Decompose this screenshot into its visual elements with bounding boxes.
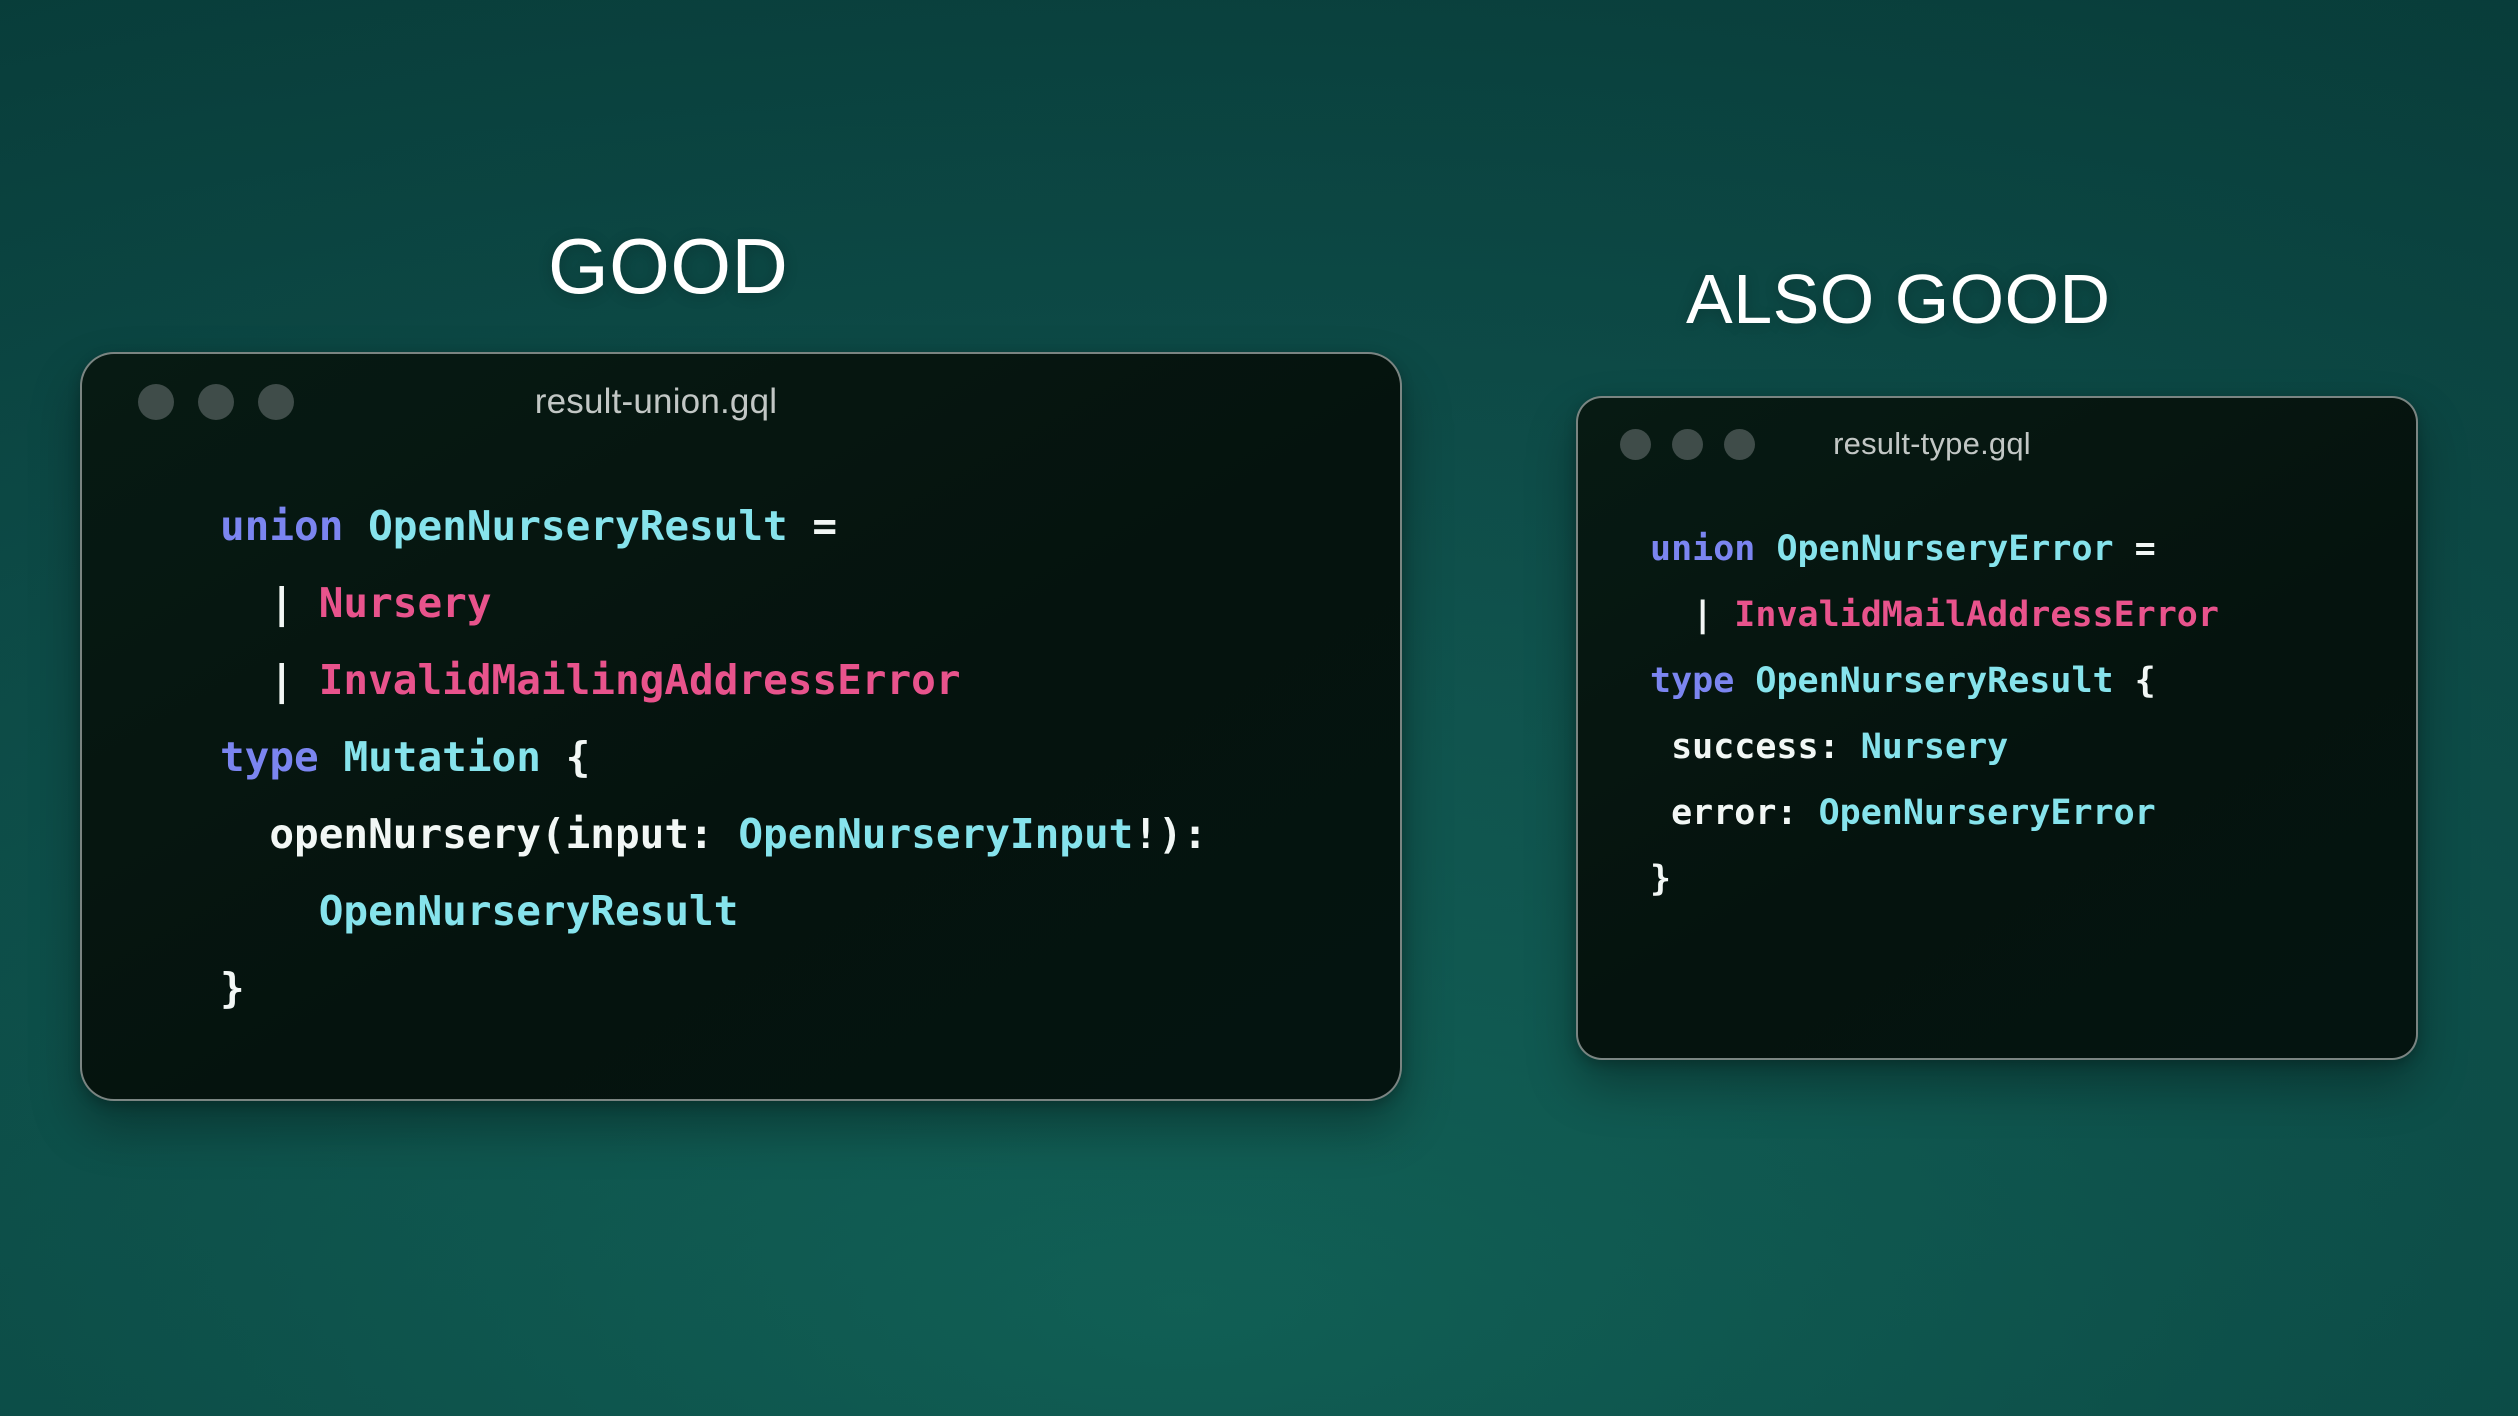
code-line: OpenNurseryResult <box>220 873 1400 950</box>
code-token <box>319 733 344 781</box>
code-token: error: <box>1650 793 1819 833</box>
window-close-dot-icon[interactable] <box>1620 429 1651 460</box>
code-token: OpenNurseryResult <box>319 887 739 935</box>
code-token: OpenNurseryInput <box>738 810 1133 858</box>
panel-heading-also-good: ALSO GOOD <box>1686 264 2111 334</box>
code-token: OpenNurseryResult <box>1755 661 2113 701</box>
code-token: OpenNurseryResult <box>368 502 788 550</box>
code-token: Mutation <box>343 733 540 781</box>
code-token: openNursery(input: <box>220 810 738 858</box>
code-token: type <box>1650 661 1734 701</box>
code-token: union <box>1650 529 1755 569</box>
code-block: union OpenNurseryResult = | Nursery | In… <box>82 450 1400 1027</box>
code-token: OpenNurseryError <box>1819 793 2156 833</box>
code-card-also-good: result-type.gql union OpenNurseryError =… <box>1576 396 2418 1060</box>
code-line: error: OpenNurseryError <box>1650 780 2416 846</box>
code-token: = <box>788 502 837 550</box>
code-token: InvalidMailAddressError <box>1734 595 2219 635</box>
code-card-titlebar: result-union.gql <box>82 354 1400 450</box>
window-minimize-dot-icon[interactable] <box>1672 429 1703 460</box>
code-token <box>1734 661 1755 701</box>
code-token: union <box>220 502 343 550</box>
code-line: union OpenNurseryResult = <box>220 488 1400 565</box>
code-line: | Nursery <box>220 565 1400 642</box>
code-token: Nursery <box>1861 727 2009 767</box>
code-line: openNursery(input: OpenNurseryInput!): <box>220 796 1400 873</box>
code-token: | <box>1650 595 1734 635</box>
code-token: = <box>2114 529 2156 569</box>
code-token: OpenNurseryError <box>1776 529 2113 569</box>
code-line: type Mutation { <box>220 719 1400 796</box>
code-token: InvalidMailingAddressError <box>319 656 961 704</box>
code-line: union OpenNurseryError = <box>1650 516 2416 582</box>
window-close-dot-icon[interactable] <box>138 384 174 420</box>
code-line: } <box>1650 846 2416 912</box>
code-token: | <box>220 656 319 704</box>
slide-canvas: GOOD ALSO GOOD result-union.gql union Op… <box>0 0 2518 1416</box>
code-card-good: result-union.gql union OpenNurseryResult… <box>80 352 1402 1101</box>
window-controls <box>1620 429 1755 460</box>
code-token: success: <box>1650 727 1861 767</box>
window-controls <box>138 384 294 420</box>
code-line: | InvalidMailAddressError <box>1650 582 2416 648</box>
window-maximize-dot-icon[interactable] <box>1724 429 1755 460</box>
window-minimize-dot-icon[interactable] <box>198 384 234 420</box>
code-card-titlebar: result-type.gql <box>1578 398 2416 490</box>
code-token: { <box>2114 661 2156 701</box>
code-line: type OpenNurseryResult { <box>1650 648 2416 714</box>
code-token <box>220 887 319 935</box>
panel-heading-good: GOOD <box>548 227 788 305</box>
code-token: !): <box>1133 810 1207 858</box>
code-token: { <box>541 733 590 781</box>
code-block: union OpenNurseryError = | InvalidMailAd… <box>1578 490 2416 912</box>
code-line: } <box>220 950 1400 1027</box>
code-line: | InvalidMailingAddressError <box>220 642 1400 719</box>
code-token: Nursery <box>319 579 492 627</box>
code-token: | <box>220 579 319 627</box>
code-token: type <box>220 733 319 781</box>
code-token <box>343 502 368 550</box>
code-token: } <box>220 964 245 1012</box>
code-token: } <box>1650 859 1671 899</box>
code-token <box>1755 529 1776 569</box>
code-line: success: Nursery <box>1650 714 2416 780</box>
window-maximize-dot-icon[interactable] <box>258 384 294 420</box>
